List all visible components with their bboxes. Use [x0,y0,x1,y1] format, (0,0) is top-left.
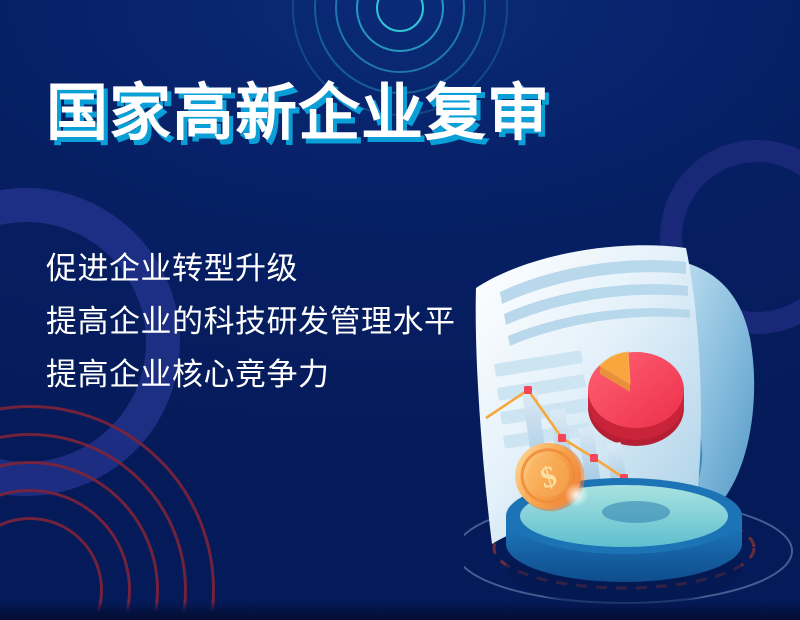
pie-chart [588,352,684,446]
list-item: 促进企业转型升级 [46,242,456,295]
report-document-illustration: $ [464,196,794,616]
list-item: 提高企业核心竞争力 [46,348,456,401]
benefit-list: 促进企业转型升级 提高企业的科技研发管理水平 提高企业核心竞争力 [46,242,456,401]
list-item: 提高企业的科技研发管理水平 [46,295,456,348]
promo-poster: 高新认证 国家高新企业复审 促进企业转型升级 提高企业的科技研发管理水平 提高企… [0,0,800,620]
page-title: 国家高新企业复审 [46,82,550,145]
bottom-band [0,602,800,620]
pedestal-contact-shadow [602,501,670,523]
